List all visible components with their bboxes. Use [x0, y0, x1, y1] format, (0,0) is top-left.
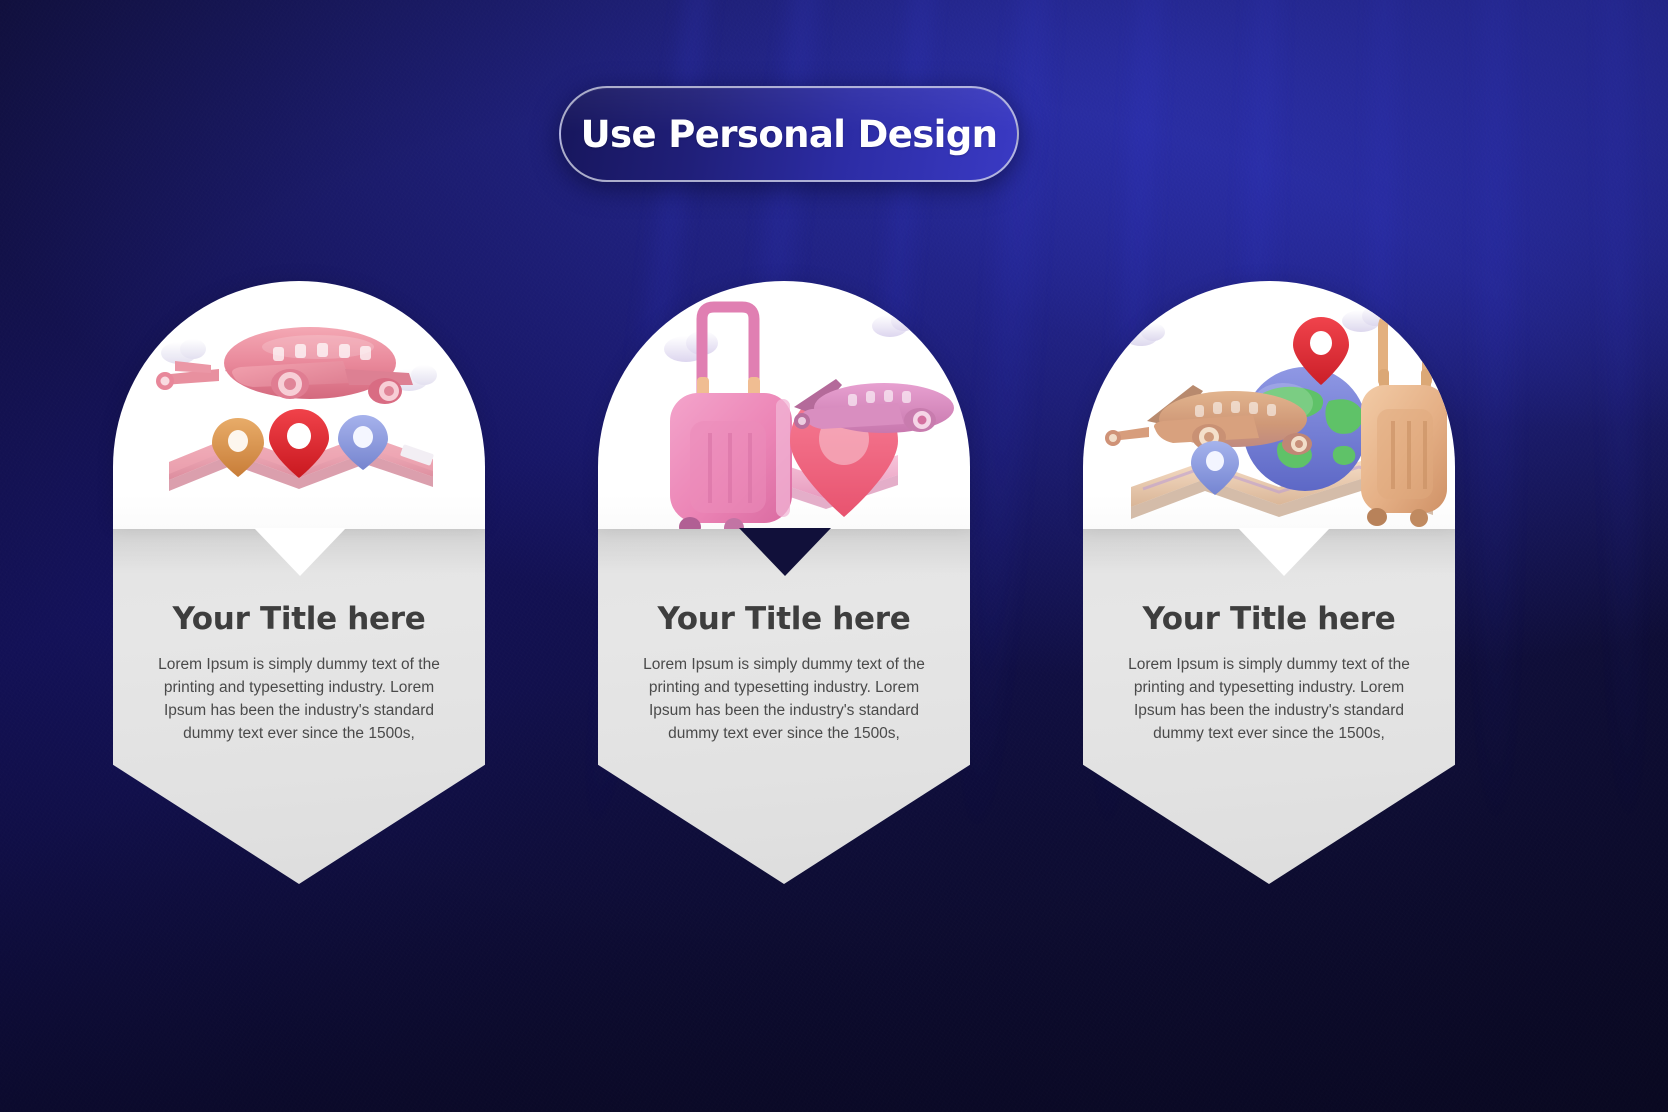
suitcase-pin-airplane-illustration [598, 281, 970, 529]
card-2-body: Your Title here Lorem Ipsum is simply du… [598, 528, 970, 884]
header-title: Use Personal Design [581, 113, 998, 156]
card-1-body: Your Title here Lorem Ipsum is simply du… [113, 528, 485, 884]
globe-airplane-suitcase-illustration [1083, 281, 1455, 529]
card-1[interactable]: Your Title here Lorem Ipsum is simply du… [113, 281, 485, 884]
card-3[interactable]: Your Title here Lorem Ipsum is simply du… [1083, 281, 1455, 884]
card-1-text: Lorem Ipsum is simply dummy text of the … [113, 654, 485, 746]
poster-canvas: Use Personal Design [0, 0, 1668, 1112]
card-3-text: Lorem Ipsum is simply dummy text of the … [1083, 654, 1455, 746]
card-3-image-panel [1083, 281, 1455, 529]
card-2-image-panel [598, 281, 970, 529]
card-2-text: Lorem Ipsum is simply dummy text of the … [598, 654, 970, 746]
card-2-title: Your Title here [598, 601, 970, 637]
airplane-map-pins-illustration [113, 281, 485, 529]
card-3-body: Your Title here Lorem Ipsum is simply du… [1083, 528, 1455, 884]
header-pill[interactable]: Use Personal Design [559, 86, 1019, 182]
card-2[interactable]: Your Title here Lorem Ipsum is simply du… [598, 281, 970, 884]
card-1-image-panel [113, 281, 485, 529]
card-1-title: Your Title here [113, 601, 485, 637]
card-3-title: Your Title here [1083, 601, 1455, 637]
